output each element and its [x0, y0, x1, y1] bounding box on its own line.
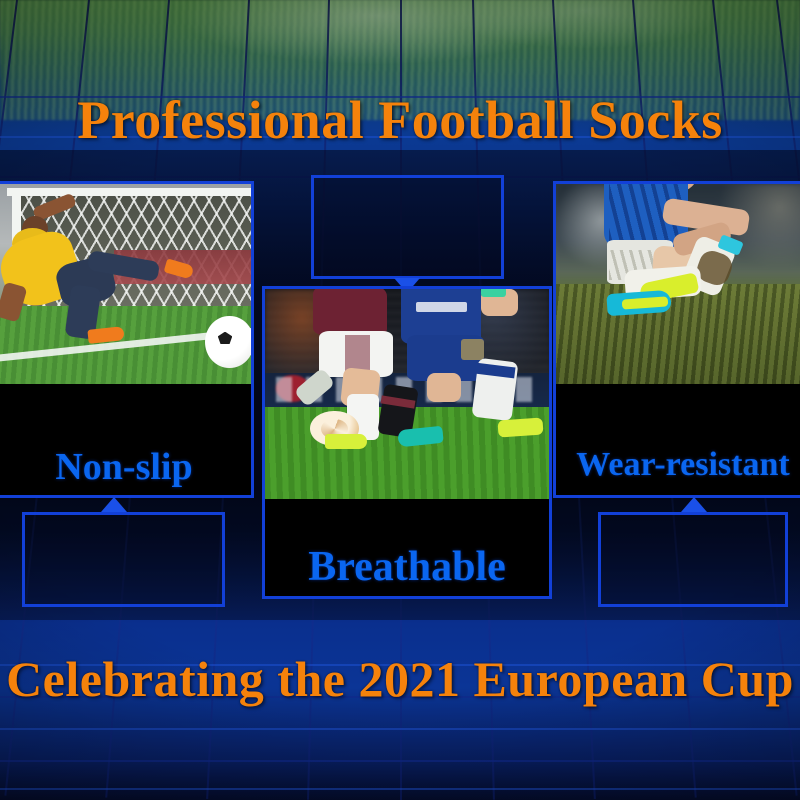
promo-poster: Non-slip [0, 0, 800, 800]
feature-photo-wear-resistant [556, 184, 800, 384]
placeholder-box-bottom-left[interactable] [22, 512, 225, 607]
feature-photo-non-slip [0, 184, 251, 384]
feature-caption-band-non-slip: Non-slip [0, 384, 251, 495]
pointer-up-left-icon [101, 497, 127, 512]
poster-title: Professional Football Socks [0, 93, 800, 147]
feature-panel-wear-resistant[interactable]: Wear-resistant [553, 181, 800, 498]
feature-panel-breathable[interactable]: Breathable [262, 286, 552, 599]
poster-footer-title: Celebrating the 2021 European Cup [0, 654, 800, 704]
placeholder-box-top-center[interactable] [311, 175, 504, 279]
feature-caption-wear-resistant: Wear-resistant [556, 448, 800, 482]
feature-panel-non-slip[interactable]: Non-slip [0, 181, 254, 498]
feature-caption-breathable: Breathable [265, 546, 549, 588]
feature-caption-band-wear-resistant: Wear-resistant [556, 384, 800, 495]
feature-caption-band-breathable: Breathable [265, 499, 549, 596]
pointer-up-right-icon [681, 497, 707, 512]
feature-photo-breathable [265, 289, 549, 499]
placeholder-box-bottom-right[interactable] [598, 512, 788, 607]
feature-caption-non-slip: Non-slip [0, 448, 251, 486]
